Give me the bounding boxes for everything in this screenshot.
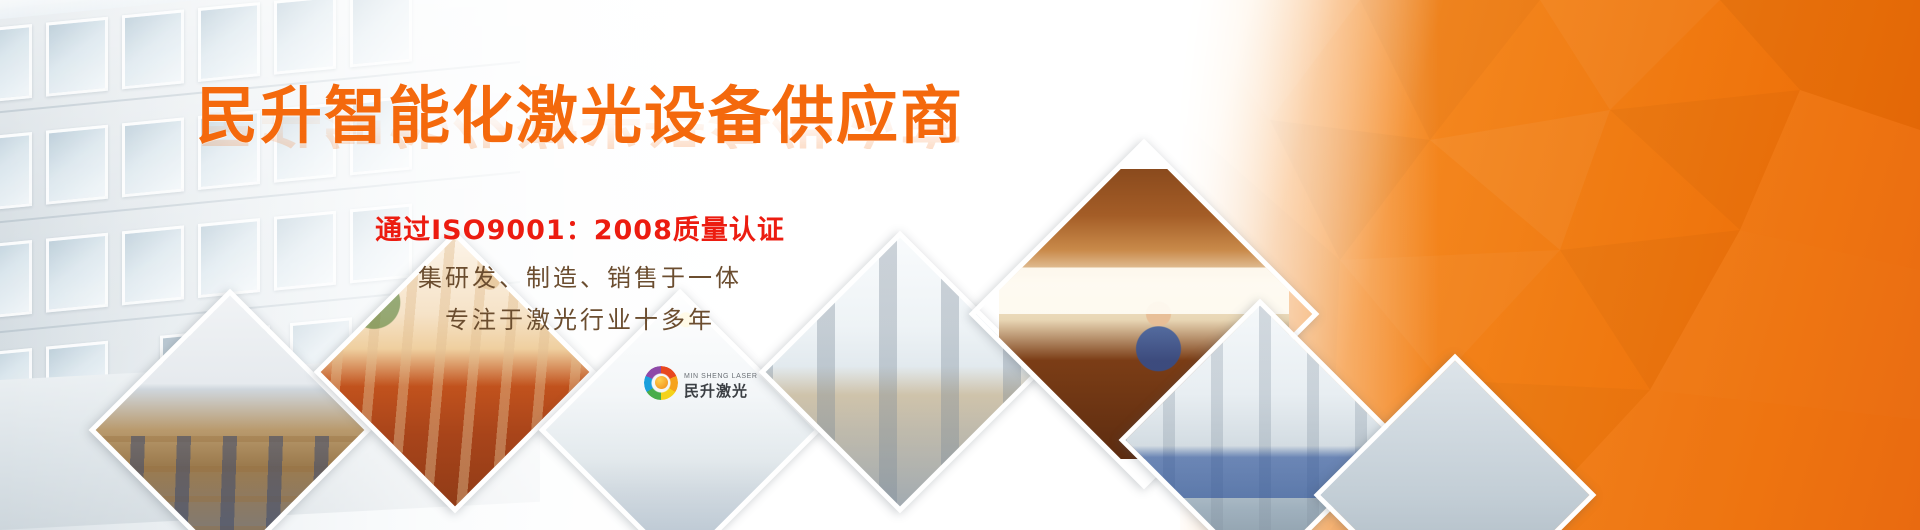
tagline-line-1: 集研发、制造、销售于一体 [0, 258, 1160, 293]
certification-text: 通过ISO9001：2008质量认证 [0, 208, 1160, 247]
logo-english-name: MIN SHENG LASER [684, 373, 758, 380]
bottom-fade [0, 504, 1920, 530]
company-logo: MIN SHENG LASER 民升激光 [638, 362, 764, 403]
laser-ring-logo-icon [644, 366, 678, 400]
logo-chinese-name: 民升激光 [684, 382, 748, 400]
tagline-line-2: 专注于激光行业十多年 [0, 300, 1160, 335]
company-hero-banner: 民升智能化激光设备供应商 民升智能化激光设备供应商 通过ISO9001：2008… [0, 0, 1920, 530]
